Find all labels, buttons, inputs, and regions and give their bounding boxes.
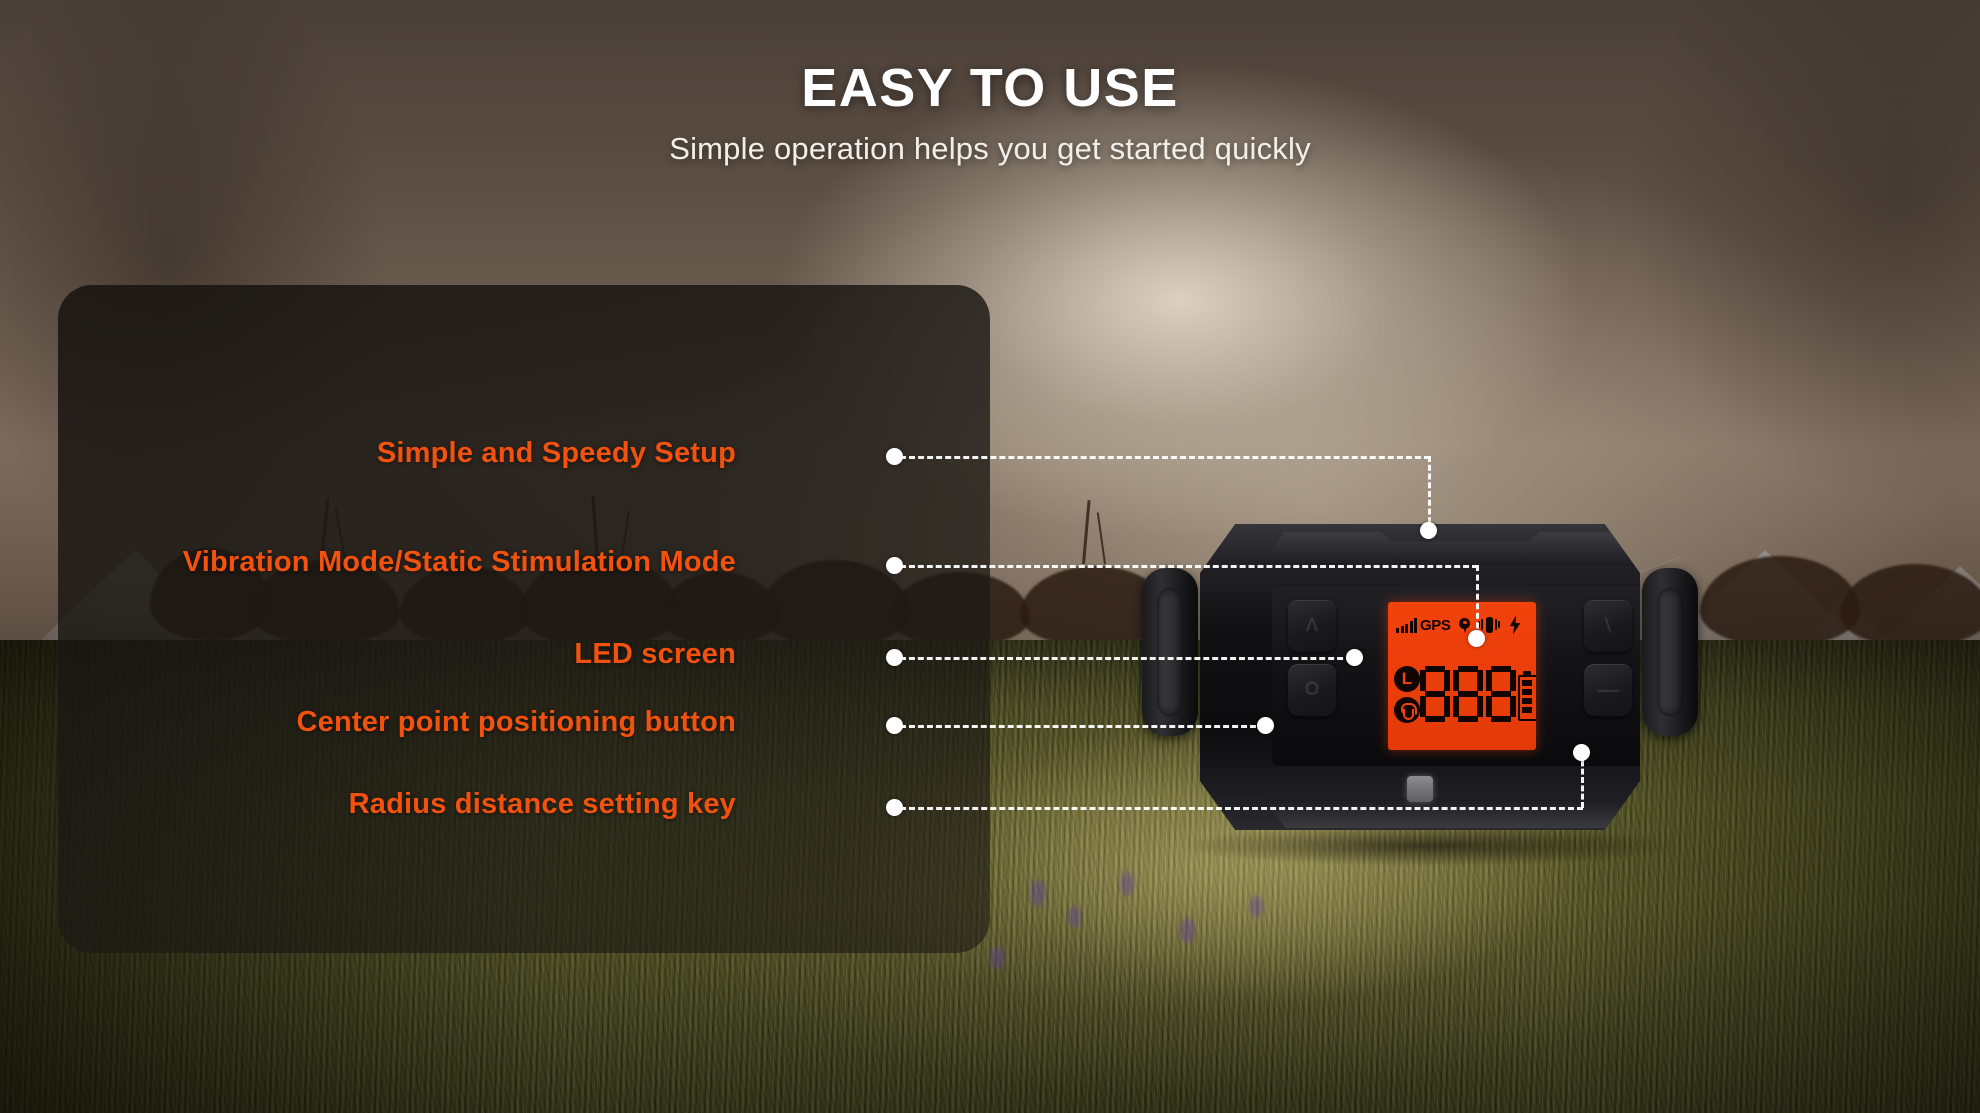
callout-simple-setup-endpoint — [1420, 522, 1437, 539]
callout-led-screen-line-h — [900, 657, 1352, 660]
callout-radius-distance-key-endpoint — [1573, 744, 1590, 761]
callout-vibration-mode-endpoint — [1468, 630, 1485, 647]
callout-vibration-mode-line-v — [1476, 565, 1479, 638]
callout-center-point-button-endpoint — [1257, 717, 1274, 734]
callout-vibration-mode-label: Vibration Mode/Static Stimulation Mode — [183, 546, 736, 579]
callout-center-point-button-label: Center point positioning button — [296, 706, 736, 739]
callout-simple-setup-label: Simple and Speedy Setup — [377, 437, 736, 470]
callout-simple-setup-line-h — [900, 456, 1430, 459]
slide-stage: EASY TO USE Simple operation helps you g… — [0, 0, 1980, 1113]
callout-radius-distance-key-label: Radius distance setting key — [349, 788, 736, 821]
callout-center-point-button-line-h — [900, 725, 1265, 728]
callout-simple-setup-line-v — [1428, 456, 1431, 532]
callout-vibration-mode-line-h — [900, 565, 1478, 568]
callout-radius-distance-key-line-h — [900, 807, 1583, 810]
callout-group: Simple and Speedy Setup Vibration Mode/S… — [0, 0, 1980, 1113]
callout-led-screen-label: LED screen — [574, 638, 736, 671]
callout-led-screen-endpoint — [1346, 649, 1363, 666]
